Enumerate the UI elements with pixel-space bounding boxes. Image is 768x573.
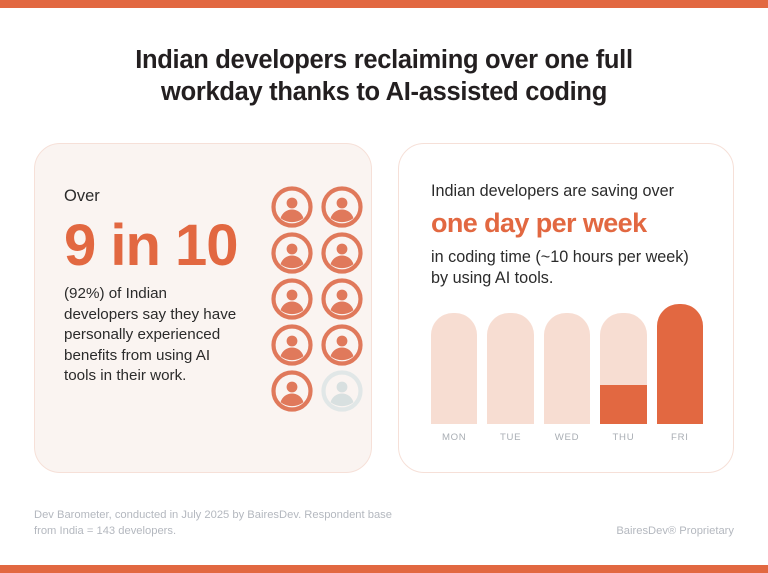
person-icon — [271, 278, 313, 320]
day-label-wed: WED — [544, 432, 590, 443]
time-saved-detail: in coding time (~10 hours per week) by u… — [431, 247, 713, 289]
person-icon — [271, 370, 313, 412]
bar-thu — [600, 313, 646, 424]
bar-column-wed — [544, 304, 590, 424]
bar-tue — [487, 313, 533, 424]
footer-source-note: Dev Barometer, conducted in July 2025 by… — [34, 508, 434, 539]
over-label: Over — [64, 186, 284, 206]
page-title-line-1: Indian developers reclaiming over one fu… — [0, 44, 768, 76]
cards-container: Over 9 in 10 (92%) of Indian developers … — [34, 143, 734, 473]
person-icon-inactive — [321, 370, 363, 412]
person-icon — [321, 278, 363, 320]
person-icon — [321, 186, 363, 228]
time-saved-detail-line-1: in coding time (~10 hours per week) — [431, 248, 689, 266]
time-saved-text-block: Indian developers are saving over one da… — [431, 180, 713, 289]
day-label-fri: FRI — [657, 432, 703, 443]
page-title-line-2: workday thanks to AI-assisted coding — [0, 76, 768, 108]
adoption-text-block: Over 9 in 10 (92%) of Indian developers … — [64, 186, 284, 387]
time-saved-highlight: one day per week — [431, 206, 713, 240]
footer-proprietary-note: BairesDev® Proprietary — [616, 524, 734, 540]
top-accent-bar — [0, 0, 768, 8]
page-title: Indian developers reclaiming over one fu… — [0, 44, 768, 108]
chart-bars — [431, 304, 703, 424]
day-label-thu: THU — [600, 432, 646, 443]
bar-fill-thu — [600, 385, 646, 424]
day-label-mon: MON — [431, 432, 477, 443]
bar-column-thu — [600, 304, 646, 424]
bottom-accent-bar — [0, 565, 768, 573]
big-stat-value: 9 in 10 — [64, 214, 284, 278]
bar-fri — [657, 304, 703, 424]
time-saved-lead-line: Indian developers are saving over — [431, 180, 713, 202]
adoption-body-text: (92%) of Indian developers say they have… — [64, 284, 244, 387]
time-saved-detail-line-2: by using AI tools. — [431, 269, 553, 287]
people-pictogram — [271, 186, 363, 412]
bar-column-tue — [487, 304, 533, 424]
bar-column-fri — [657, 304, 703, 424]
bar-wed — [544, 313, 590, 424]
footer-source-line-2: from India = 143 developers. — [34, 525, 176, 537]
bar-mon — [431, 313, 477, 424]
person-icon — [321, 324, 363, 366]
chart-day-labels: MON TUE WED THU FRI — [431, 432, 703, 443]
stat-card-time-saved: Indian developers are saving over one da… — [398, 143, 734, 473]
stat-card-adoption: Over 9 in 10 (92%) of Indian developers … — [34, 143, 372, 473]
weekly-bars-chart: MON TUE WED THU FRI — [431, 304, 703, 439]
person-icon — [321, 232, 363, 274]
person-icon — [271, 324, 313, 366]
bar-column-mon — [431, 304, 477, 424]
day-label-tue: TUE — [487, 432, 533, 443]
person-icon — [271, 232, 313, 274]
person-icon — [271, 186, 313, 228]
footer-source-line-1: Dev Barometer, conducted in July 2025 by… — [34, 509, 392, 521]
